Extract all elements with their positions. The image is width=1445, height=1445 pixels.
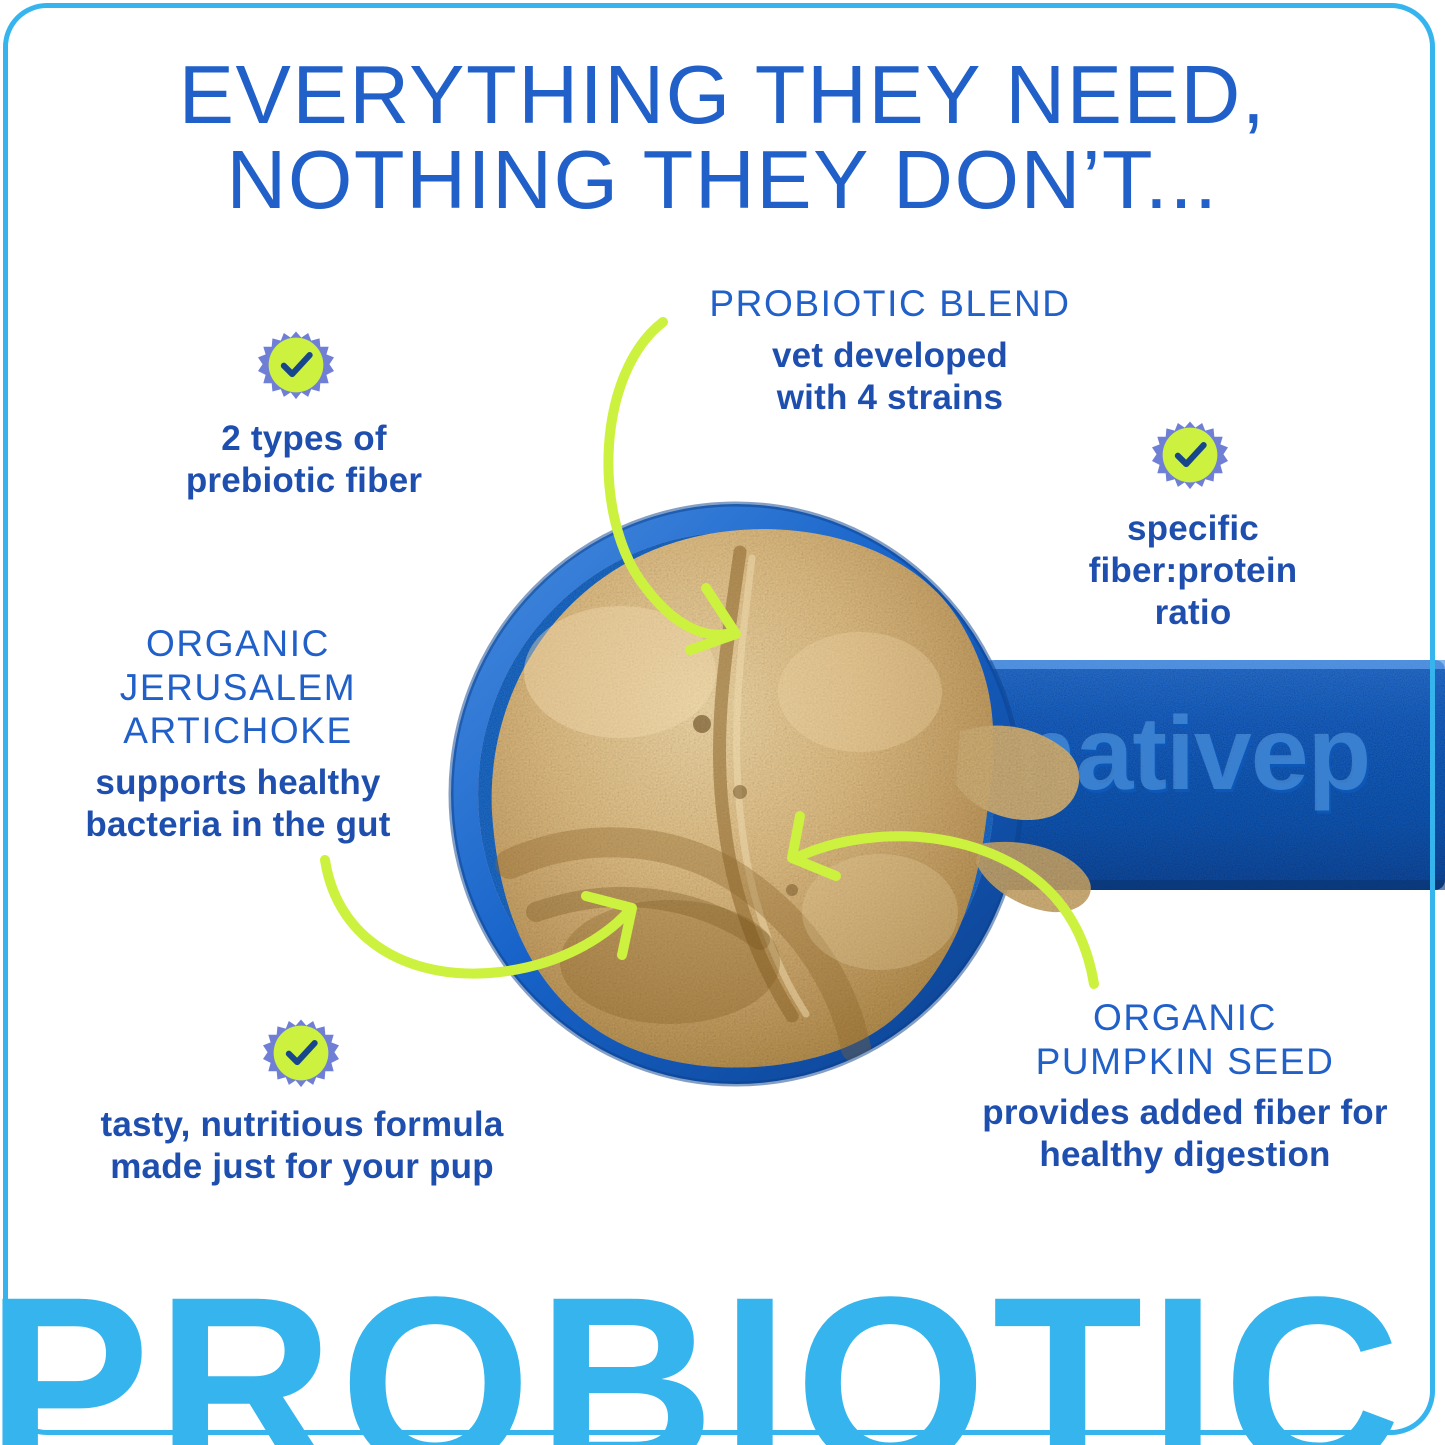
callout-title: PROBIOTIC BLEND [620, 282, 1160, 326]
check-badge-icon [1152, 420, 1228, 496]
callout-body-line-1: provides added fiber for [940, 1092, 1430, 1134]
product-wordmark: PROBIOTIC [0, 1261, 1445, 1445]
callout-title-line-3: ARTICHOKE [28, 709, 448, 753]
callout-body-line-2: healthy digestion [940, 1134, 1430, 1176]
check-line-1: tasty, nutritious formula [52, 1104, 552, 1146]
callout-jerusalem-artichoke: ORGANIC JERUSALEM ARTICHOKE supports hea… [28, 622, 448, 846]
callout-body-line-1: vet developed [620, 335, 1160, 377]
callout-title-line-2: PUMPKIN SEED [940, 1040, 1430, 1084]
check-badge-icon [258, 330, 334, 406]
check-badge-icon [263, 1018, 339, 1094]
check-label-tasty-formula: tasty, nutritious formula made just for … [52, 1104, 552, 1188]
check-line-1: specific [1000, 508, 1386, 550]
infographic-canvas: EVERYTHING THEY NEED, NOTHING THEY DON’T… [0, 0, 1445, 1445]
headline-line-2: NOTHING THEY DON’T... [0, 137, 1445, 222]
check-line-3: ratio [1000, 592, 1386, 634]
page-title: EVERYTHING THEY NEED, NOTHING THEY DON’T… [0, 52, 1445, 223]
check-line-2: prebiotic fiber [110, 460, 498, 502]
callout-body-line-1: supports healthy [28, 762, 448, 804]
callout-title-line-1: ORGANIC [940, 996, 1430, 1040]
callout-body-line-2: bacteria in the gut [28, 804, 448, 846]
callout-pumpkin-seed: ORGANIC PUMPKIN SEED provides added fibe… [940, 996, 1430, 1176]
check-line-2: fiber:protein [1000, 550, 1386, 592]
callout-probiotic-blend: PROBIOTIC BLEND vet developed with 4 str… [620, 282, 1160, 419]
check-label-fiber-protein-ratio: specific fiber:protein ratio [1000, 508, 1386, 634]
callout-title-line-1: ORGANIC [28, 622, 448, 666]
headline-line-1: EVERYTHING THEY NEED, [0, 52, 1445, 137]
check-line-1: 2 types of [110, 418, 498, 460]
check-line-2: made just for your pup [52, 1146, 552, 1188]
callout-title-line-2: JERUSALEM [28, 666, 448, 710]
probiotic-powder [492, 529, 994, 1067]
callout-body-line-2: with 4 strains [620, 377, 1160, 419]
check-label-prebiotic-fiber: 2 types of prebiotic fiber [110, 418, 498, 502]
